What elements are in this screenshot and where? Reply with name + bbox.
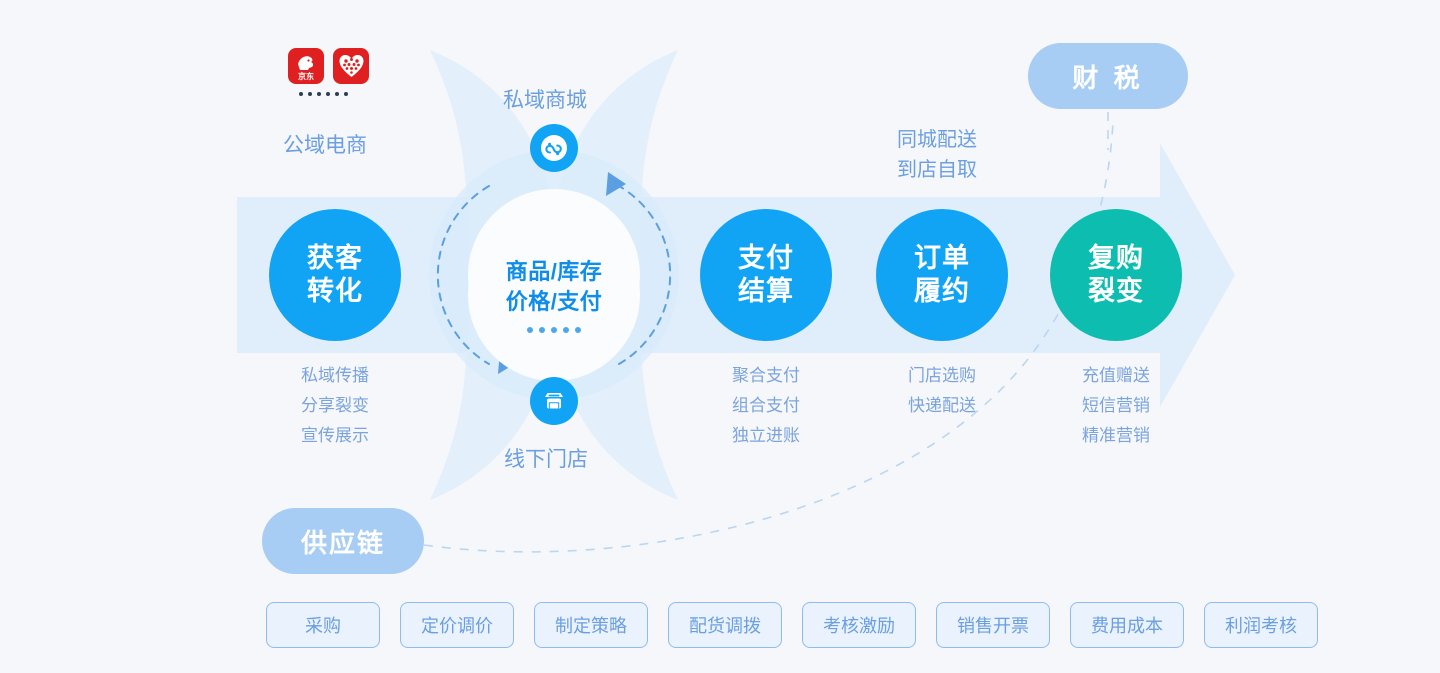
stage-repurchase-item-1: 短信营销: [1051, 391, 1181, 421]
chip-incentive[interactable]: 考核激励: [802, 602, 916, 648]
public-domain-ecommerce-label: 公域电商: [283, 130, 367, 162]
stage-acquire-title-1: 获客: [307, 242, 363, 275]
stage-acquire-item-1: 分享裂变: [270, 391, 400, 421]
chip-strategy[interactable]: 制定策略: [534, 602, 648, 648]
supply-chain-pill[interactable]: 供应链: [262, 508, 424, 574]
jd-logo-text: 京东: [288, 71, 324, 82]
private-domain-mall-label: 私域商城: [503, 85, 587, 117]
core-line-1: 商品/库存: [506, 257, 603, 287]
jd-logo: 京东: [288, 48, 324, 84]
stage-fulfillment-item-1: 快递配送: [877, 391, 1007, 421]
platform-ellipsis-dots: [299, 92, 348, 96]
stage-acquire-title-2: 转化: [307, 275, 363, 308]
wechat-miniprogram-icon: [530, 124, 578, 172]
chip-procurement[interactable]: 采购: [266, 602, 380, 648]
stage-payment-item-0: 聚合支付: [701, 361, 831, 391]
stage-repurchase-title-2: 裂变: [1088, 275, 1144, 308]
chip-pricing[interactable]: 定价调价: [400, 602, 514, 648]
stage-acquire-item-0: 私域传播: [270, 361, 400, 391]
stage-node-repurchase[interactable]: 复购 裂变: [1050, 209, 1182, 341]
stage-payment-item-2: 独立进账: [701, 421, 831, 451]
stage-payment-item-1: 组合支付: [701, 391, 831, 421]
stage-fulfillment-items: 门店选购 快递配送: [877, 361, 1007, 421]
stage-acquire-items: 私域传播 分享裂变 宣传展示: [270, 361, 400, 451]
delivery-note-line2: 到店自取: [897, 155, 977, 185]
stage-repurchase-title-1: 复购: [1088, 242, 1144, 275]
stage-fulfillment-title-1: 订单: [914, 242, 970, 275]
stage-repurchase-item-0: 充值赠送: [1051, 361, 1181, 391]
platform-logo-row: 京东: [288, 48, 369, 84]
stage-fulfillment-title-2: 履约: [914, 275, 970, 308]
chip-profit-review[interactable]: 利润考核: [1204, 602, 1318, 648]
chip-cost[interactable]: 费用成本: [1070, 602, 1184, 648]
stage-acquire-item-2: 宣传展示: [270, 421, 400, 451]
delivery-note-line1: 同城配送: [897, 125, 977, 155]
heart-logo: [333, 48, 369, 84]
background-graphics: [0, 0, 1440, 673]
stage-payment-title-1: 支付: [738, 242, 794, 275]
stage-node-acquire[interactable]: 获客 转化: [269, 209, 401, 341]
stage-payment-items: 聚合支付 组合支付 独立进账: [701, 361, 831, 451]
stage-node-fulfillment[interactable]: 订单 履约: [876, 209, 1008, 341]
stage-payment-title-2: 结算: [738, 275, 794, 308]
finance-tax-pill[interactable]: 财 税: [1028, 43, 1188, 109]
stage-fulfillment-item-0: 门店选购: [877, 361, 1007, 391]
chip-allocation[interactable]: 配货调拨: [668, 602, 782, 648]
capability-chip-row: 采购 定价调价 制定策略 配货调拨 考核激励 销售开票 费用成本 利润考核: [266, 602, 1318, 648]
stage-repurchase-item-2: 精准营销: [1051, 421, 1181, 451]
stage-node-payment[interactable]: 支付 结算: [700, 209, 832, 341]
diagram-canvas: 京东 公域电商 私域商城: [0, 0, 1440, 673]
heart-icon: [338, 53, 365, 79]
offline-store-label: 线下门店: [504, 444, 588, 476]
stage-repurchase-items: 充值赠送 短信营销 精准营销: [1051, 361, 1181, 451]
chip-invoicing[interactable]: 销售开票: [936, 602, 1050, 648]
core-line-2: 价格/支付: [506, 287, 603, 317]
core-capability-circle: 商品/库存 价格/支付: [468, 209, 640, 381]
core-ellipsis-dots: [527, 327, 581, 333]
storefront-icon: [530, 377, 578, 425]
